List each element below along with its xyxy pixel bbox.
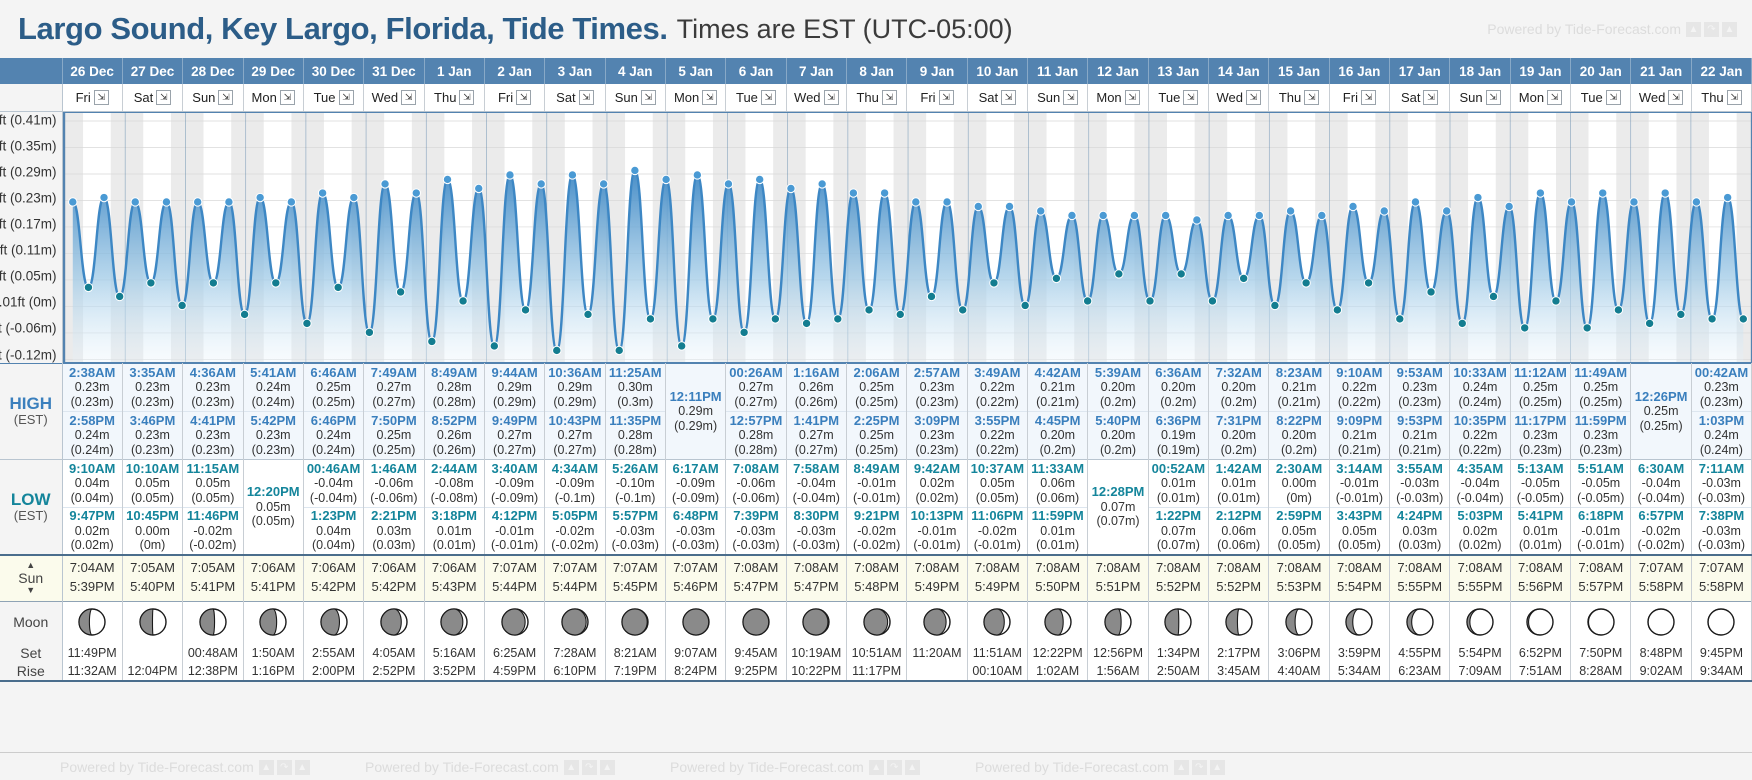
date-header-14[interactable]: 9 Jan [907, 58, 967, 84]
date-header-6[interactable]: 1 Jan [424, 58, 484, 84]
moonset-cell: 1:50AM [243, 643, 303, 662]
low-tide-marker [84, 283, 92, 291]
date-header-2[interactable]: 28 Dec [183, 58, 243, 84]
high-tide-label: HIGH (EST) [0, 363, 62, 459]
tide-height: -0.01m [907, 524, 966, 539]
sun-cell: 7:08AM5:56PM [1510, 555, 1570, 601]
moonset-cell: 11:49PM [62, 643, 122, 662]
tide-height: 0.02m [1450, 524, 1509, 539]
high-tide-marker [1067, 211, 1075, 219]
expand-icon[interactable]: ⇲ [1183, 90, 1198, 105]
high-tide-cell: 8:49AM0.28m(0.28m) [424, 363, 484, 411]
high-tide-cell: 3:09PM0.23m(0.23m) [907, 411, 967, 459]
tide-time: 12:20PM [244, 484, 303, 499]
low-tide-cell: 12:20PM0.05m(0.05m) [243, 459, 303, 555]
date-header-7[interactable]: 2 Jan [484, 58, 544, 84]
sunrise-time: 7:08AM [1571, 559, 1630, 578]
sun-cell: 7:08AM5:57PM [1571, 555, 1631, 601]
y-axis-label-5: 0.37ft (0.11m) [0, 243, 57, 258]
expand-icon[interactable]: ⇲ [280, 90, 295, 105]
tide-height: -0.04m [304, 476, 363, 491]
low-tide-cell: 6:30AM-0.04m(-0.04m) [1631, 459, 1691, 507]
tide-height: -0.01m [485, 524, 544, 539]
date-header-27[interactable]: 22 Jan [1691, 58, 1751, 84]
date-header-12[interactable]: 7 Jan [786, 58, 846, 84]
day-of-week-label: Mon [252, 90, 277, 105]
tide-time: 8:22PM [1269, 413, 1328, 428]
moon-phase-cell [484, 601, 544, 643]
high-tide-marker [693, 170, 701, 178]
sunset-time: 5:47PM [726, 578, 785, 597]
day-header-26: Wed⇲ [1631, 84, 1691, 111]
tide-height-alt: (0.25m) [847, 395, 906, 410]
tide-height-alt: (-0.02m) [183, 538, 242, 553]
high-tide-marker [786, 184, 794, 192]
tide-height: 0.20m [1209, 428, 1268, 443]
tide-height: 0.28m [606, 428, 665, 443]
expand-icon[interactable]: ⇲ [218, 90, 233, 105]
low-tide-marker [146, 278, 154, 286]
low-tide-marker [209, 278, 217, 286]
tide-height: 0.26m [787, 380, 846, 395]
date-header-24[interactable]: 19 Jan [1510, 58, 1570, 84]
high-tide-row-1: HIGH (EST) 2:38AM0.23m(0.23m)3:35AM0.23m… [0, 363, 1752, 411]
tide-height-alt: (0.29m) [485, 395, 544, 410]
tide-height: 0.01m [1149, 476, 1208, 491]
tide-time: 9:10AM [63, 461, 122, 476]
low-tide-marker [115, 292, 123, 300]
moon-phase-cell [907, 601, 967, 643]
day-header-24: Mon⇲ [1510, 84, 1570, 111]
high-tide-marker [68, 197, 76, 205]
high-tide-cell: 7:50PM0.25m(0.25m) [364, 411, 424, 459]
high-tide-cell: 4:42AM0.21m(0.21m) [1028, 363, 1088, 411]
date-header-26[interactable]: 21 Jan [1631, 58, 1691, 84]
high-tide-cell: 10:43PM0.27m(0.27m) [545, 411, 605, 459]
tide-height: 0.23m [907, 428, 966, 443]
moonrise-cell: 6:10PM [545, 662, 605, 681]
tide-height-alt: (0m) [1269, 491, 1328, 506]
moon-phase-icon [787, 607, 846, 637]
sunrise-time: 7:06AM [364, 559, 423, 578]
tide-time: 3:35AM [123, 365, 182, 380]
sunrise-time: 7:08AM [847, 559, 906, 578]
date-header-0[interactable]: 26 Dec [62, 58, 122, 84]
expand-icon[interactable]: ⇲ [1361, 90, 1376, 105]
sun-label-inner: ▲ Sun ▼ [0, 561, 62, 595]
low-tide-marker [739, 328, 747, 336]
tide-height: 0.23m [123, 380, 182, 395]
low-tide-marker [458, 296, 466, 304]
low-tide-cell: 4:24PM0.03m(0.03m) [1390, 507, 1450, 555]
tide-height-alt: (-0.09m) [485, 491, 544, 506]
date-header-16[interactable]: 11 Jan [1028, 58, 1088, 84]
tide-height-alt: (0.22m) [968, 395, 1027, 410]
day-header-1: Sat⇲ [122, 84, 182, 111]
date-header-25[interactable]: 20 Jan [1571, 58, 1631, 84]
tide-height: 0.05m [183, 476, 242, 491]
moonset-cell: 7:28AM [545, 643, 605, 662]
date-header-9[interactable]: 4 Jan [605, 58, 665, 84]
date-header-15[interactable]: 10 Jan [967, 58, 1027, 84]
tide-time: 10:35PM [1450, 413, 1509, 428]
day-of-week-label: Sat [556, 90, 576, 105]
tide-height-alt: (0.29m) [545, 395, 604, 410]
day-of-week-label: Sat [1401, 90, 1421, 105]
tide-height-alt: (0.25m) [304, 395, 363, 410]
tide-height-alt: (0.23m) [907, 443, 966, 458]
high-tide-cell: 3:35AM0.23m(0.23m) [122, 363, 182, 411]
tide-time: 10:43PM [545, 413, 604, 428]
sunset-time: 5:47PM [787, 578, 846, 597]
sunset-time: 5:58PM [1631, 578, 1690, 597]
sun-label: ▲ Sun ▼ [0, 555, 62, 601]
moonset-cell: 6:25AM [484, 643, 544, 662]
tide-height-alt: (-0.02m) [545, 538, 604, 553]
y-axis-label-4: 0.56ft (0.17m) [0, 216, 57, 231]
date-header-17[interactable]: 12 Jan [1088, 58, 1148, 84]
tide-time: 4:24PM [1390, 508, 1449, 523]
expand-icon[interactable]: ⇲ [1063, 90, 1078, 105]
chart-icon: ▲ [1174, 760, 1189, 775]
low-tide-cell: 10:13PM-0.01m(-0.01m) [907, 507, 967, 555]
expand-icon[interactable]: ⇲ [1125, 90, 1140, 105]
date-header-11[interactable]: 6 Jan [726, 58, 786, 84]
low-tide-cell: 11:59PM0.01m(0.01m) [1028, 507, 1088, 555]
expand-icon[interactable]: ⇲ [1423, 90, 1438, 105]
sunrise-time: 7:08AM [1511, 559, 1570, 578]
low-tide-marker [521, 305, 529, 313]
tide-time: 6:17AM [666, 461, 725, 476]
low-tide-cell: 4:12PM-0.01m(-0.01m) [484, 507, 544, 555]
tide-height-alt: (0.03m) [364, 538, 423, 553]
expand-icon[interactable]: ⇲ [882, 90, 897, 105]
tide-height-alt: (-0.03m) [666, 538, 725, 553]
date-header-8[interactable]: 3 Jan [545, 58, 605, 84]
date-header-3[interactable]: 29 Dec [243, 58, 303, 84]
tide-height-alt: (-0.03m) [726, 538, 785, 553]
date-header-18[interactable]: 13 Jan [1148, 58, 1208, 84]
sun-cell: 7:08AM5:49PM [907, 555, 967, 601]
expand-icon[interactable]: ⇲ [1727, 90, 1742, 105]
tide-height-alt: (0.28m) [425, 395, 484, 410]
high-tide-marker [224, 197, 232, 205]
tide-height-alt: (-0.02m) [1631, 538, 1690, 553]
tide-height: 0.28m [425, 380, 484, 395]
moon-phase-cell [605, 601, 665, 643]
moon-phase-cell [545, 601, 605, 643]
day-of-week-label: Thu [856, 90, 878, 105]
low-tide-marker [1364, 278, 1372, 286]
moonrise-cell: 6:23AM [1390, 662, 1450, 681]
tide-time: 4:45PM [1028, 413, 1087, 428]
low-tide-marker [177, 301, 185, 309]
powered-by-footer-1: Powered by Tide-Forecast.com▲↷▲ [365, 759, 615, 775]
powered-by-text: Powered by Tide-Forecast.com [365, 759, 559, 775]
moonrise-cell: 11:17PM [846, 662, 906, 681]
moonset-row: Set 11:49PM00:48AM1:50AM2:55AM4:05AM5:16… [0, 643, 1752, 662]
page-title: Largo Sound, Key Largo, Florida, Tide Ti… [18, 11, 668, 47]
high-tide-cell: 00:26AM0.27m(0.27m) [726, 363, 786, 411]
high-tide-cell: 10:36AM0.29m(0.29m) [545, 363, 605, 411]
sun-cell: 7:05AM5:41PM [183, 555, 243, 601]
day-of-week-label: Tue [1581, 90, 1603, 105]
tide-time: 6:18PM [1571, 508, 1630, 523]
tide-time: 9:09PM [1330, 413, 1389, 428]
tide-time: 5:57PM [606, 508, 665, 523]
date-header-1[interactable]: 27 Dec [122, 58, 182, 84]
moon-phase-cell [1691, 601, 1751, 643]
low-tide-cell: 10:45PM0.00m(0m) [122, 507, 182, 555]
tide-time: 9:49PM [485, 413, 544, 428]
tide-time: 10:10AM [123, 461, 182, 476]
tide-height-alt: (0.01m) [1149, 491, 1208, 506]
day-header-14: Fri⇲ [907, 84, 967, 111]
day-header-19: Wed⇲ [1209, 84, 1269, 111]
high-tide-cell: 9:53PM0.21m(0.21m) [1390, 411, 1450, 459]
tide-height-alt: (0.23m) [1692, 395, 1751, 410]
expand-icon[interactable]: ⇲ [641, 90, 656, 105]
sunset-time: 5:42PM [304, 578, 363, 597]
day-header-15: Sat⇲ [967, 84, 1027, 111]
tide-height-alt: (0.05m) [244, 514, 303, 529]
tide-height-alt: (-0.01m) [1330, 491, 1389, 506]
expand-icon[interactable]: ⇲ [401, 90, 416, 105]
sun-cell: 7:07AM5:46PM [665, 555, 725, 601]
tide-time: 1:16AM [787, 365, 846, 380]
low-tide-marker [1520, 323, 1528, 331]
tide-time: 12:57PM [726, 413, 785, 428]
moon-phase-icon [545, 607, 604, 637]
sun-cell: 7:08AM5:54PM [1329, 555, 1389, 601]
day-of-week-label: Sat [979, 90, 999, 105]
day-of-week-label: Sat [134, 90, 154, 105]
date-header-20[interactable]: 15 Jan [1269, 58, 1329, 84]
date-header-10[interactable]: 5 Jan [665, 58, 725, 84]
high-tide-marker [193, 197, 201, 205]
moonset-cell: 12:22PM [1028, 643, 1088, 662]
expand-icon[interactable]: ⇲ [1304, 90, 1319, 105]
high-tide-cell: 1:03PM0.24m(0.24m) [1691, 411, 1751, 459]
high-tide-cell: 11:12AM0.25m(0.25m) [1510, 363, 1570, 411]
powered-by-footer-2: Powered by Tide-Forecast.com▲↷▲ [670, 759, 920, 775]
low-tide-cell: 2:12PM0.06m(0.06m) [1209, 507, 1269, 555]
low-tide-marker [1301, 278, 1309, 286]
day-of-week-label: Fri [498, 90, 513, 105]
tide-height: 0.24m [63, 428, 122, 443]
low-tide-label-main: LOW [0, 490, 62, 510]
high-tide-marker [1661, 188, 1669, 196]
moonset-cell: 11:51AM [967, 643, 1027, 662]
sunrise-time: 7:07AM [666, 559, 725, 578]
low-tide-marker [896, 310, 904, 318]
date-header-5[interactable]: 31 Dec [364, 58, 424, 84]
low-tide-label-sub: (EST) [0, 509, 62, 524]
high-tide-cell: 12:26PM0.25m(0.25m) [1631, 363, 1691, 459]
tide-height-alt: (0.29m) [666, 419, 725, 434]
page-footer: Powered by Tide-Forecast.com▲↷▲Powered b… [0, 752, 1752, 780]
sunrise-time: 7:06AM [244, 559, 303, 578]
day-header-16: Sun⇲ [1028, 84, 1088, 111]
tide-time: 4:42AM [1028, 365, 1087, 380]
low-tide-marker [1739, 314, 1747, 322]
expand-icon[interactable]: ⇲ [579, 90, 594, 105]
sun-cell: 7:08AM5:48PM [846, 555, 906, 601]
expand-icon[interactable]: ⇲ [459, 90, 474, 105]
expand-icon[interactable]: ⇲ [702, 90, 717, 105]
sunset-time: 5:45PM [606, 578, 665, 597]
tide-height-alt: (-0.01m) [1571, 538, 1630, 553]
expand-icon[interactable]: ⇲ [939, 90, 954, 105]
date-header-4[interactable]: 30 Dec [303, 58, 363, 84]
tide-height: 0.19m [1149, 428, 1208, 443]
tide-height: -0.04m [1450, 476, 1509, 491]
low-tide-cell: 5:57PM-0.03m(-0.03m) [605, 507, 665, 555]
date-header-19[interactable]: 14 Jan [1209, 58, 1269, 84]
tide-height-alt: (0.21m) [1028, 395, 1087, 410]
high-tide-marker [1723, 193, 1731, 201]
moonset-cell: 1:34PM [1148, 643, 1208, 662]
low-tide-marker [1020, 301, 1028, 309]
date-header-13[interactable]: 8 Jan [846, 58, 906, 84]
low-tide-marker [958, 305, 966, 313]
tide-height-alt: (-0.1m) [606, 491, 665, 506]
date-header-23[interactable]: 18 Jan [1450, 58, 1510, 84]
tide-height-alt: (0.06m) [1028, 491, 1087, 506]
high-tide-marker [661, 175, 669, 183]
day-of-week-label: Tue [314, 90, 336, 105]
tide-height: 0.24m [1450, 380, 1509, 395]
expand-icon[interactable]: ⇲ [94, 90, 109, 105]
expand-icon[interactable]: ⇲ [761, 90, 776, 105]
moonrise-cell: 1:56AM [1088, 662, 1148, 681]
tide-height: 0.25m [304, 380, 363, 395]
powered-by-text: Powered by Tide-Forecast.com [975, 759, 1169, 775]
high-tide-marker [1348, 202, 1356, 210]
moonrise-cell: 9:25PM [726, 662, 786, 681]
sun-cell: 7:07AM5:44PM [545, 555, 605, 601]
tide-time: 5:39AM [1088, 365, 1147, 380]
high-tide-cell: 2:57AM0.23m(0.23m) [907, 363, 967, 411]
tide-height: 0.23m [244, 428, 303, 443]
low-tide-marker [1551, 296, 1559, 304]
sun-cell: 7:06AM5:41PM [243, 555, 303, 601]
date-header-22[interactable]: 17 Jan [1390, 58, 1450, 84]
tide-height-alt: (-0.08m) [425, 491, 484, 506]
expand-icon[interactable]: ⇲ [1001, 90, 1016, 105]
sun-label-text: Sun [18, 570, 43, 586]
expand-icon[interactable]: ⇲ [1547, 90, 1562, 105]
day-header-8: Sat⇲ [545, 84, 605, 111]
tide-height: -0.03m [606, 524, 665, 539]
high-tide-marker [349, 193, 357, 201]
day-header-27: Thu⇲ [1691, 84, 1751, 111]
expand-icon[interactable]: ⇲ [1606, 90, 1621, 105]
sun-cell: 7:06AM5:42PM [303, 555, 363, 601]
expand-icon[interactable]: ⇲ [339, 90, 354, 105]
low-tide-marker [771, 314, 779, 322]
expand-icon[interactable]: ⇲ [824, 90, 839, 105]
tide-height-alt: (0.07m) [1088, 514, 1147, 529]
low-tide-marker [864, 305, 872, 313]
expand-icon[interactable]: ⇲ [516, 90, 531, 105]
tide-height-alt: (0.02m) [1450, 538, 1509, 553]
moonrise-cell: 5:34AM [1329, 662, 1389, 681]
low-tide-marker [989, 278, 997, 286]
moon-phase-icon [1330, 607, 1389, 637]
moon-phase-icon [1631, 607, 1690, 637]
tide-height: 0.25m [364, 428, 423, 443]
moon-phase-cell [1329, 601, 1389, 643]
tide-height-alt: (0.01m) [1209, 491, 1268, 506]
moonrise-cell: 12:38PM [183, 662, 243, 681]
tide-height-alt: (0.2m) [1209, 443, 1268, 458]
high-tide-cell: 5:39AM0.20m(0.2m) [1088, 363, 1148, 411]
day-of-week-label: Wed [794, 90, 821, 105]
moonset-cell: 9:45PM [1691, 643, 1751, 662]
tide-chart[interactable] [63, 112, 1752, 363]
low-tide-cell: 5:03PM0.02m(0.02m) [1450, 507, 1510, 555]
expand-icon[interactable]: ⇲ [156, 90, 171, 105]
y-axis-label-2: 0.94ft (0.29m) [0, 164, 57, 179]
tide-height-alt: (0.05m) [1269, 538, 1328, 553]
moonrise-cell: 9:34AM [1691, 662, 1751, 681]
high-tide-marker [1473, 193, 1481, 201]
refresh-icon: ↷ [887, 760, 902, 775]
sunset-time: 5:44PM [485, 578, 544, 597]
tide-height-alt: (-0.01m) [968, 538, 1027, 553]
tide-height: 0.27m [364, 380, 423, 395]
tide-height: 0.23m [907, 380, 966, 395]
sunset-time: 5:55PM [1450, 578, 1509, 597]
tide-height: 0.05m [123, 476, 182, 491]
sunset-time: 5:48PM [847, 578, 906, 597]
expand-icon[interactable]: ⇲ [1486, 90, 1501, 105]
tide-time: 3:18PM [425, 508, 484, 523]
tide-time: 3:14AM [1330, 461, 1389, 476]
day-of-week-label: Wed [372, 90, 399, 105]
low-tide-marker [927, 292, 935, 300]
moonset-cell: 3:59PM [1329, 643, 1389, 662]
tide-height-alt: (0.25m) [364, 443, 423, 458]
sun-cell: 7:08AM5:53PM [1269, 555, 1329, 601]
tide-height-alt: (0.04m) [304, 538, 363, 553]
high-tide-marker [1255, 211, 1263, 219]
refresh-icon: ↷ [582, 760, 597, 775]
tide-height: 0.30m [606, 380, 665, 395]
low-tide-cell: 5:05PM-0.02m(-0.02m) [545, 507, 605, 555]
sunrise-time: 7:08AM [1149, 559, 1208, 578]
tide-height: 0.27m [545, 428, 604, 443]
chart-icon: ▲ [1686, 22, 1701, 37]
sunrise-time: 7:08AM [1088, 559, 1147, 578]
sunrise-time: 7:07AM [1692, 559, 1751, 578]
low-tide-cell: 7:38PM-0.03m(-0.03m) [1691, 507, 1751, 555]
date-header-21[interactable]: 16 Jan [1329, 58, 1389, 84]
sun-row: ▲ Sun ▼ 7:04AM5:39PM7:05AM5:40PM7:05AM5:… [0, 555, 1752, 601]
low-tide-cell: 11:46PM-0.02m(-0.02m) [183, 507, 243, 555]
day-header-9: Sun⇲ [605, 84, 665, 111]
y-axis-label-1: 1.14ft (0.35m) [0, 138, 57, 153]
moon-phase-icon [123, 607, 182, 637]
low-tide-marker [708, 314, 716, 322]
tide-height-alt: (-0.03m) [787, 538, 846, 553]
high-tide-cell: 00:42AM0.23m(0.23m) [1691, 363, 1751, 411]
expand-icon[interactable]: ⇲ [1246, 90, 1261, 105]
tide-time: 8:49AM [847, 461, 906, 476]
expand-icon[interactable]: ⇲ [1668, 90, 1683, 105]
tide-height-alt: (0.05m) [968, 491, 1027, 506]
